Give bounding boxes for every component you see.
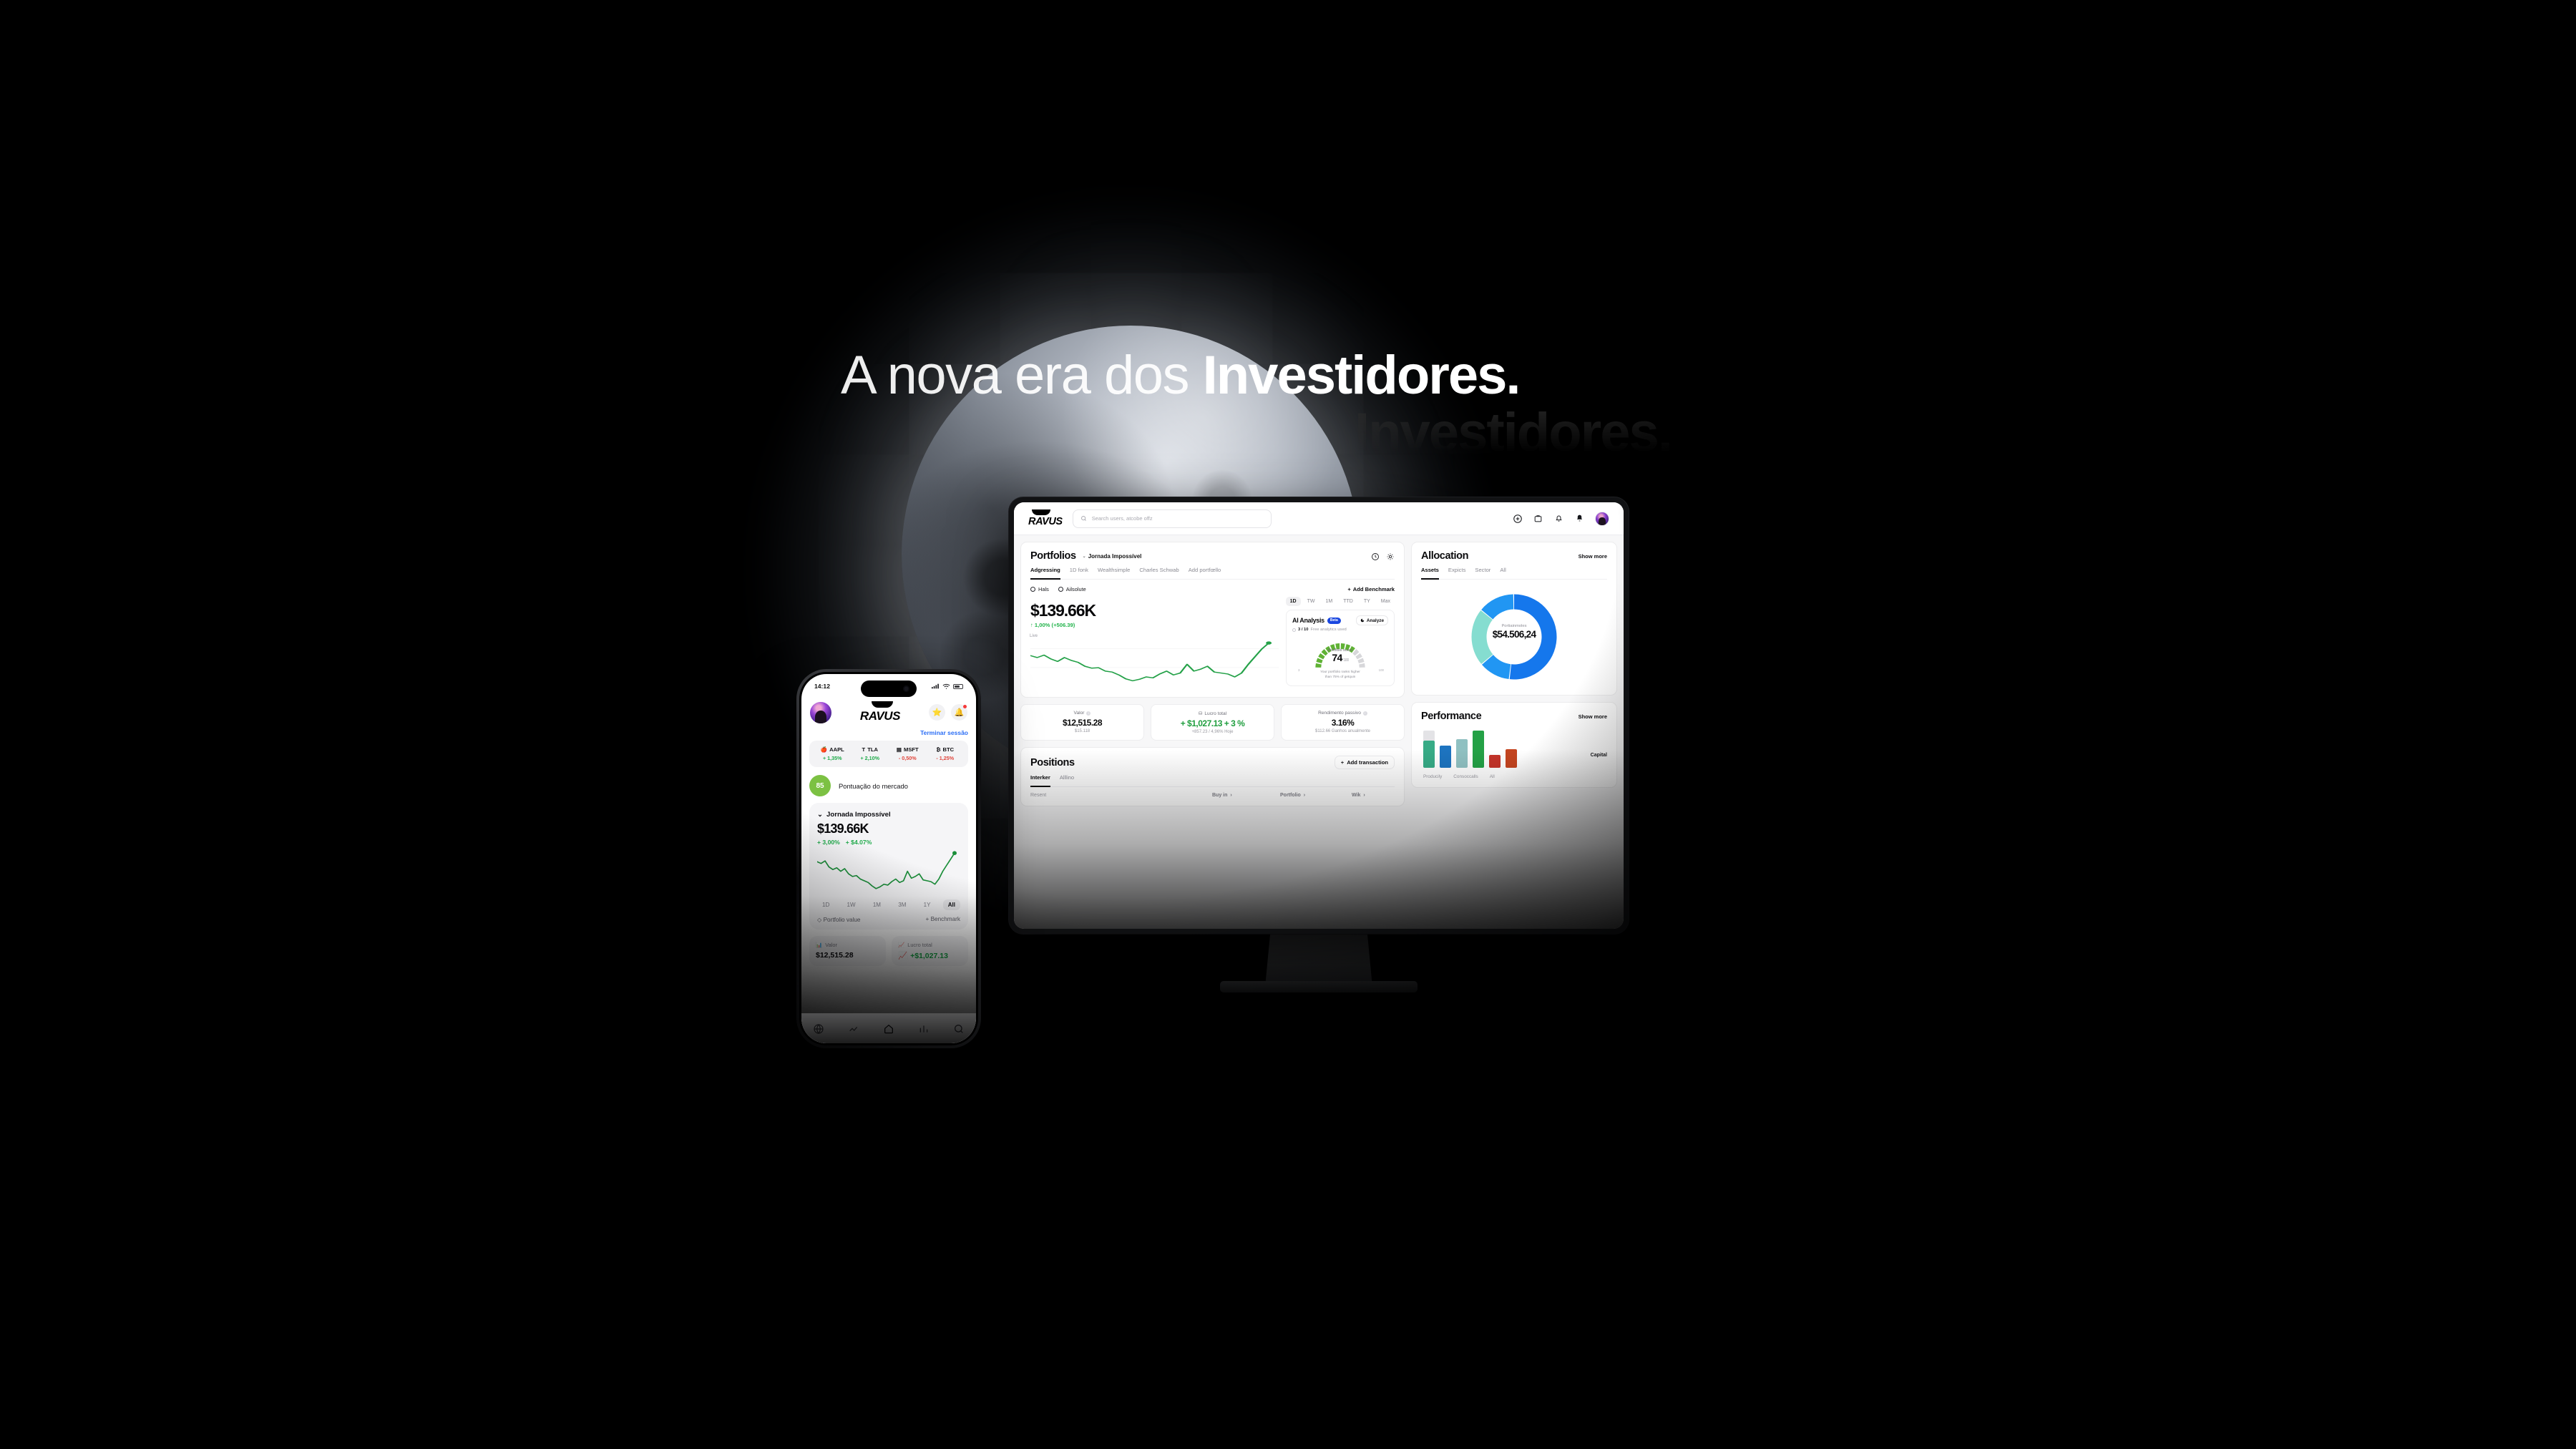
trend-up-icon: 📈 xyxy=(898,942,904,948)
allocation-tabs: Assets Expicts Sector All xyxy=(1421,567,1607,580)
mini-value: 📈+$1,027.13 xyxy=(898,951,962,960)
gauge-min-label: 3 xyxy=(1298,668,1299,672)
column-buy-in[interactable]: Buy in› xyxy=(1212,793,1280,798)
battery-icon xyxy=(953,684,963,689)
market-score-row: 85 Pontuação do mercado xyxy=(809,775,968,796)
phone-inner-bezel: 14:12 RAVUS ⭐ xyxy=(799,672,978,1045)
score-max: / 100 xyxy=(1342,658,1349,663)
ticker-change: - 1,25% xyxy=(927,755,965,761)
trend-up-icon: 📈 xyxy=(898,951,907,960)
performance-bar[interactable] xyxy=(1506,749,1517,768)
tab-adgressing[interactable]: Adgressing xyxy=(1030,567,1060,576)
app-header: RAVUS Search users, atcobe offz xyxy=(1014,502,1624,535)
phone-content: Terminar sessão 🍎AAPL + 1,35% TTLA + 2,1… xyxy=(801,729,976,966)
portfolios-title: Portfolios xyxy=(1030,550,1076,562)
allocation-show-more[interactable]: Show more xyxy=(1579,553,1607,560)
plus-icon: + xyxy=(1341,759,1344,766)
monitor-foot xyxy=(1220,981,1418,992)
performance-chart-row: Capital xyxy=(1421,722,1607,768)
gauge-max-label: 100 xyxy=(1379,668,1384,672)
portfolio-chart-block: $139.66K ↑ 1,00% (+506.39) Live xyxy=(1030,597,1279,689)
range-selector: 1D TW 1M TTD TY Max xyxy=(1286,597,1395,606)
search-placeholder: Search users, atcobe offz xyxy=(1092,515,1153,522)
portfolio-value-toggle[interactable]: ◇ Portfolio value xyxy=(817,916,860,923)
stat-label: ⛁Lucro total xyxy=(1158,711,1267,716)
mini-value-text: +$1,027.13 xyxy=(910,952,948,960)
add-circle-icon[interactable] xyxy=(1512,513,1523,524)
headline-bold: Investidores. xyxy=(1203,345,1520,406)
chevron-down-icon: ⌄ xyxy=(1083,554,1086,559)
portfolio-selector[interactable]: ⌄ Jornada Impossível xyxy=(1083,553,1142,560)
headline-reflection: Investidores. xyxy=(1355,406,1672,460)
info-icon[interactable]: i xyxy=(1363,711,1367,716)
stat-label-text: Lucro total xyxy=(1204,711,1226,716)
ticker-name: ₿BTC xyxy=(927,746,965,753)
performance-bar[interactable] xyxy=(1423,741,1435,768)
stat-card-lucro-total: ⛁Lucro total + $1,027.13 + 3 % +857.23 /… xyxy=(1151,704,1274,741)
performance-card: Performance Show more Capital Producily … xyxy=(1411,702,1617,788)
bell-outline-icon[interactable] xyxy=(1553,513,1564,524)
gauge-segment xyxy=(1315,663,1321,668)
desktop-monitor: RAVUS Search users, atcobe offz xyxy=(1009,497,1629,934)
performance-bar[interactable] xyxy=(1473,731,1484,768)
ticker-msft[interactable]: ▤MSFT - 0,50% xyxy=(889,746,927,761)
wifi-icon xyxy=(942,683,950,690)
history-icon[interactable] xyxy=(1371,552,1380,560)
gauge-footnote: Your portfolio ranks higher than 75% of … xyxy=(1292,670,1388,680)
radio-ailsolute-label: Ailsolute xyxy=(1066,586,1086,592)
range-ty[interactable]: TY xyxy=(1360,597,1375,606)
portfolio-value-label: Portfolio value xyxy=(824,917,861,923)
search-icon xyxy=(1080,515,1087,522)
performance-show-more[interactable]: Show more xyxy=(1579,713,1607,720)
ai-quota-label: Free analytics used xyxy=(1311,628,1347,632)
positions-header: Positions + Add transaction xyxy=(1030,756,1395,769)
phone-frame: 14:12 RAVUS ⭐ xyxy=(796,669,981,1048)
performance-legend-capital: Capital xyxy=(1591,753,1607,768)
bull-horn-icon xyxy=(872,701,893,708)
brand-logo[interactable]: RAVUS xyxy=(1028,509,1063,527)
gauge-segment xyxy=(1359,663,1365,668)
ticker-symbol: MSFT xyxy=(904,746,919,753)
add-benchmark-button[interactable]: + Add Benchmark xyxy=(1347,586,1395,592)
portfolio-sparkline xyxy=(1030,638,1279,686)
status-time: 14:12 xyxy=(814,683,830,690)
allocation-donut: Portiainmoles $54.506,24 xyxy=(1421,587,1607,687)
right-column: Allocation Show more Assets Expicts Sect… xyxy=(1411,542,1617,806)
phone-portfolio-selector[interactable]: ⌄ Jornada Impossível xyxy=(817,811,960,819)
allocation-header: Allocation Show more xyxy=(1421,550,1607,562)
range-max[interactable]: Max xyxy=(1377,597,1395,606)
ticker-change: + 1,35% xyxy=(814,755,852,761)
signal-icon xyxy=(932,683,940,689)
range-ttd[interactable]: TTD xyxy=(1339,597,1357,606)
donut-center-value: $54.506,24 xyxy=(1421,629,1607,640)
ai-quota-used: 3 / 10 xyxy=(1298,628,1309,632)
bell-icon[interactable] xyxy=(1574,513,1585,524)
phone-range-1m[interactable]: 1M xyxy=(868,899,886,910)
radio-ailsolute[interactable]: Ailsolute xyxy=(1058,586,1086,592)
performance-bar[interactable] xyxy=(1489,755,1501,768)
add-transaction-button[interactable]: + Add transaction xyxy=(1335,756,1395,769)
microsoft-icon: ▤ xyxy=(897,746,902,753)
positions-title: Positions xyxy=(1030,757,1075,769)
phone-sparkline xyxy=(817,849,960,893)
bar-chart-icon: 📊 xyxy=(816,942,822,948)
star-icon[interactable]: ⭐ xyxy=(929,704,945,721)
mini-label: 📈Lucro total xyxy=(898,942,962,948)
add-benchmark-button[interactable]: + Benchmark xyxy=(926,916,960,923)
phone-range-selector: 1D 1W 1M 3M 1Y All xyxy=(817,899,960,910)
plus-icon: + xyxy=(1347,586,1350,592)
legend-consoccalls[interactable]: Consoccalls xyxy=(1453,774,1478,779)
performance-bar[interactable] xyxy=(1456,739,1468,768)
portfolios-card: Portfolios ⌄ Jornada Impossível xyxy=(1020,542,1405,698)
benchmark-label: Benchmark xyxy=(931,916,960,922)
range-tw[interactable]: TW xyxy=(1303,597,1319,606)
range-1d[interactable]: 1D xyxy=(1286,597,1301,606)
allocation-card: Allocation Show more Assets Expicts Sect… xyxy=(1411,542,1617,696)
stat-cards: Valori $12,515.28 $15.118 ⛁Lucro total +… xyxy=(1020,704,1405,741)
tab-add-portfolio[interactable]: Add portfœllo xyxy=(1189,567,1221,576)
stat-label-text: Rendimento passivo xyxy=(1318,711,1361,716)
brand-name: RAVUS xyxy=(860,709,900,723)
ticker-change: - 0,50% xyxy=(889,755,927,761)
portfolio-delta: ↑ 1,00% (+506.39) xyxy=(1030,622,1279,628)
legend-all[interactable]: All xyxy=(1490,774,1495,779)
stat-value: 3.16% xyxy=(1288,718,1397,728)
gear-icon[interactable] xyxy=(1386,552,1395,560)
ticker-symbol: TLA xyxy=(867,746,878,753)
phone-chart-footer: ◇ Portfolio value + Benchmark xyxy=(817,916,960,923)
legend-producily[interactable]: Producily xyxy=(1423,774,1442,779)
column-buy-in-label: Buy in xyxy=(1212,793,1227,798)
phone-range-1w[interactable]: 1W xyxy=(842,899,861,910)
mini-label-text: Lucro total xyxy=(907,942,932,948)
gauge-footnote-line2: than 75% of getquin xyxy=(1325,675,1356,679)
headline-thin: A nova era dos xyxy=(841,345,1203,406)
score-value: 74/ 100 xyxy=(1292,653,1388,663)
ai-analysis-header: AI Analysis Beta Analyze xyxy=(1292,615,1388,625)
bell-icon[interactable]: 🔔 xyxy=(951,704,967,721)
phone-range-3m[interactable]: 3M xyxy=(893,899,911,910)
performance-bars xyxy=(1421,731,1517,768)
stat-label: Valori xyxy=(1028,711,1137,716)
donut-center: Portiainmoles $54.506,24 xyxy=(1421,624,1607,640)
mini-label-text: Valor xyxy=(825,942,837,948)
radio-hals[interactable]: Hals xyxy=(1030,586,1049,592)
radio-hals-label: Hals xyxy=(1038,586,1049,592)
briefcase-icon[interactable] xyxy=(1533,513,1543,524)
info-icon[interactable]: i xyxy=(1086,711,1091,716)
phone-portfolio-value: $139.66K xyxy=(817,821,960,836)
status-indicators xyxy=(932,683,963,690)
phone-range-1d[interactable]: 1D xyxy=(817,899,834,910)
ticker-btc[interactable]: ₿BTC - 1,25% xyxy=(927,746,965,761)
search-input[interactable]: Search users, atcobe offz xyxy=(1073,509,1272,528)
ticker-name: TTLA xyxy=(852,746,889,753)
beta-badge: Beta xyxy=(1327,618,1341,624)
ticker-change: + 2,10% xyxy=(852,755,889,761)
chart-icon[interactable] xyxy=(848,1023,859,1035)
allocation-title: Allocation xyxy=(1421,550,1468,562)
stat-value: $12,515.28 xyxy=(1028,718,1137,728)
ai-analysis-title: AI Analysis xyxy=(1292,617,1324,624)
portfolios-header: Portfolios ⌄ Jornada Impossível xyxy=(1030,550,1395,562)
stat-sub: $112.66 Ganhos anualmente xyxy=(1288,729,1397,733)
tab-alllino[interactable]: Alllino xyxy=(1060,774,1074,784)
scene-background: A nova era dos Investidores. Investidore… xyxy=(0,0,2576,1449)
phone-portfolio-delta: + 3,00% + $4.07% xyxy=(817,839,960,846)
portfolio-tabs: Adgressing 1D fonk Wealthsimple Charles … xyxy=(1030,567,1395,580)
market-score-badge: 85 xyxy=(809,775,831,796)
avatar[interactable] xyxy=(1595,512,1609,526)
positions-card: Positions + Add transaction Interker All… xyxy=(1020,747,1405,806)
search-icon[interactable] xyxy=(953,1023,965,1035)
quota-dot-icon xyxy=(1292,628,1296,632)
phone-portfolio-card: ⌄ Jornada Impossível $139.66K + 3,00% + … xyxy=(809,803,968,930)
market-score-label: Pontuação do mercado xyxy=(839,782,908,790)
performance-header: Performance Show more xyxy=(1421,711,1607,722)
phone-mini-valor: 📊Valor $12,515.28 xyxy=(809,936,886,966)
left-column: Portfolios ⌄ Jornada Impossível xyxy=(1020,542,1405,806)
phone-header: RAVUS ⭐ 🔔 xyxy=(801,698,976,729)
monitor-stand xyxy=(1265,931,1372,987)
tab-all[interactable]: All xyxy=(1500,567,1506,576)
analyze-label: Analyze xyxy=(1367,618,1384,623)
stat-card-valor: Valori $12,515.28 $15.118 xyxy=(1020,704,1144,741)
mini-value: $12,515.28 xyxy=(816,951,879,960)
column-wik[interactable]: Wik› xyxy=(1352,793,1395,798)
ticker-name: 🍎AAPL xyxy=(814,746,852,753)
column-resent[interactable]: Resent xyxy=(1030,793,1212,798)
notification-dot xyxy=(963,705,967,708)
page-title: A nova era dos Investidores. xyxy=(841,348,1843,403)
home-icon[interactable] xyxy=(883,1023,894,1035)
ticker-strip: 🍎AAPL + 1,35% TTLA + 2,10% ▤MSFT - 0,50% xyxy=(809,741,968,767)
phone-mini-lucro: 📈Lucro total 📈+$1,027.13 xyxy=(892,936,968,966)
monitor-bezel: RAVUS Search users, atcobe offz xyxy=(1009,497,1629,934)
stat-sub: $15.118 xyxy=(1028,729,1137,733)
column-portfolio[interactable]: Portfolio› xyxy=(1280,793,1352,798)
bull-horn-icon xyxy=(1032,509,1050,515)
radio-dot-icon xyxy=(1058,587,1063,592)
tab-expicts[interactable]: Expicts xyxy=(1448,567,1465,576)
ticker-name: ▤MSFT xyxy=(889,746,927,753)
delta-abs: + $4.07% xyxy=(846,839,872,846)
chart-row: $139.66K ↑ 1,00% (+506.39) Live xyxy=(1030,597,1395,689)
tab-wealthsimple[interactable]: Wealthsimple xyxy=(1098,567,1130,576)
gauge-readout: Portfolio score 74/ 100 xyxy=(1292,648,1388,663)
brand-logo[interactable]: RAVUS xyxy=(837,701,923,723)
chevron-right-icon: › xyxy=(1363,793,1365,798)
ai-analysis-card: AI Analysis Beta Analyze xyxy=(1286,610,1395,686)
tab-sector[interactable]: Sector xyxy=(1475,567,1491,576)
view-mode-radios: Hals Ailsolute + Add Benchmark xyxy=(1030,586,1395,592)
globe-icon[interactable] xyxy=(813,1023,824,1035)
column-wik-label: Wik xyxy=(1352,793,1360,798)
delta-pct: + 3,00% xyxy=(817,839,840,846)
ticker-tla[interactable]: TTLA + 2,10% xyxy=(852,746,889,761)
positions-columns: Resent Buy in› Portfolio› Wik› xyxy=(1030,793,1395,798)
pie-icon xyxy=(1360,618,1365,623)
stats-icon[interactable] xyxy=(918,1023,930,1035)
mobile-phone: 14:12 RAVUS ⭐ xyxy=(796,669,981,1048)
profit-icon: ⛁ xyxy=(1199,711,1203,716)
score-number: 74 xyxy=(1332,652,1342,663)
tab-charles-schwab[interactable]: Charles Schwab xyxy=(1139,567,1179,576)
range-1m[interactable]: 1M xyxy=(1321,597,1337,606)
analyze-button[interactable]: Analyze xyxy=(1356,615,1388,625)
ai-gauge: Portfolio score 74/ 100 3 100 xyxy=(1292,634,1388,671)
tab-1d-fonk[interactable]: 1D fonk xyxy=(1070,567,1088,576)
stat-card-rendimento-passivo: Rendimento passivoi 3.16% $112.66 Ganhos… xyxy=(1281,704,1405,741)
phone-range-1y[interactable]: 1Y xyxy=(919,899,936,910)
live-label: Live xyxy=(1030,634,1038,638)
stat-label: Rendimento passivoi xyxy=(1288,711,1397,716)
phone-portfolio-name: Jornada Impossível xyxy=(826,811,891,819)
bitcoin-icon: ₿ xyxy=(936,746,940,753)
portfolio-tools xyxy=(1371,552,1395,560)
stat-label-text: Valor xyxy=(1074,711,1085,716)
performance-bar[interactable] xyxy=(1440,746,1451,768)
mini-label: 📊Valor xyxy=(816,942,879,948)
tab-interker[interactable]: Interker xyxy=(1030,774,1050,784)
ticker-symbol: BTC xyxy=(943,746,955,753)
stat-value: + $1,027.13 + 3 % xyxy=(1158,718,1267,728)
ai-quota: 3 / 10 Free analytics used xyxy=(1292,628,1388,632)
column-portfolio-label: Portfolio xyxy=(1280,793,1301,798)
avatar[interactable] xyxy=(810,702,831,723)
monitor-screen: RAVUS Search users, atcobe offz xyxy=(1014,502,1624,929)
phone-tab-bar xyxy=(801,1013,976,1043)
performance-title: Performance xyxy=(1421,711,1481,722)
add-transaction-label: Add transaction xyxy=(1347,759,1388,766)
portfolio-value: $139.66K xyxy=(1030,601,1279,620)
apple-icon: 🍎 xyxy=(821,746,827,753)
positions-tabs: Interker Alllino xyxy=(1030,774,1395,787)
add-benchmark-label: Add Benchmark xyxy=(1353,586,1395,592)
stat-sub: +857.23 / 4,96% Hoje xyxy=(1158,730,1267,734)
tab-assets[interactable]: Assets xyxy=(1421,567,1439,576)
brand-name: RAVUS xyxy=(1028,517,1063,527)
performance-legend: Producily Consoccalls All xyxy=(1421,774,1607,779)
portfolio-selected-label: Jornada Impossível xyxy=(1088,553,1142,560)
radio-dot-icon xyxy=(1030,587,1035,592)
chevron-down-icon: ⌄ xyxy=(817,811,823,819)
ticker-aapl[interactable]: 🍎AAPL + 1,35% xyxy=(814,746,852,761)
logout-link[interactable]: Terminar sessão xyxy=(809,729,968,736)
header-actions xyxy=(1512,512,1609,526)
donut-center-label: Portiainmoles xyxy=(1421,624,1607,628)
chevron-right-icon: › xyxy=(1304,793,1305,798)
tesla-icon: T xyxy=(862,746,866,753)
app-body: Portfolios ⌄ Jornada Impossível xyxy=(1014,535,1624,813)
chevron-right-icon: › xyxy=(1230,793,1231,798)
phone-range-all[interactable]: All xyxy=(943,899,960,910)
dynamic-island xyxy=(861,680,917,697)
right-chart-column: 1D TW 1M TTD TY Max xyxy=(1286,597,1395,689)
phone-mini-cards: 📊Valor $12,515.28 📈Lucro total 📈+$1,027.… xyxy=(809,936,968,966)
ticker-symbol: AAPL xyxy=(829,746,844,753)
phone-screen: 14:12 RAVUS ⭐ xyxy=(801,674,976,1043)
